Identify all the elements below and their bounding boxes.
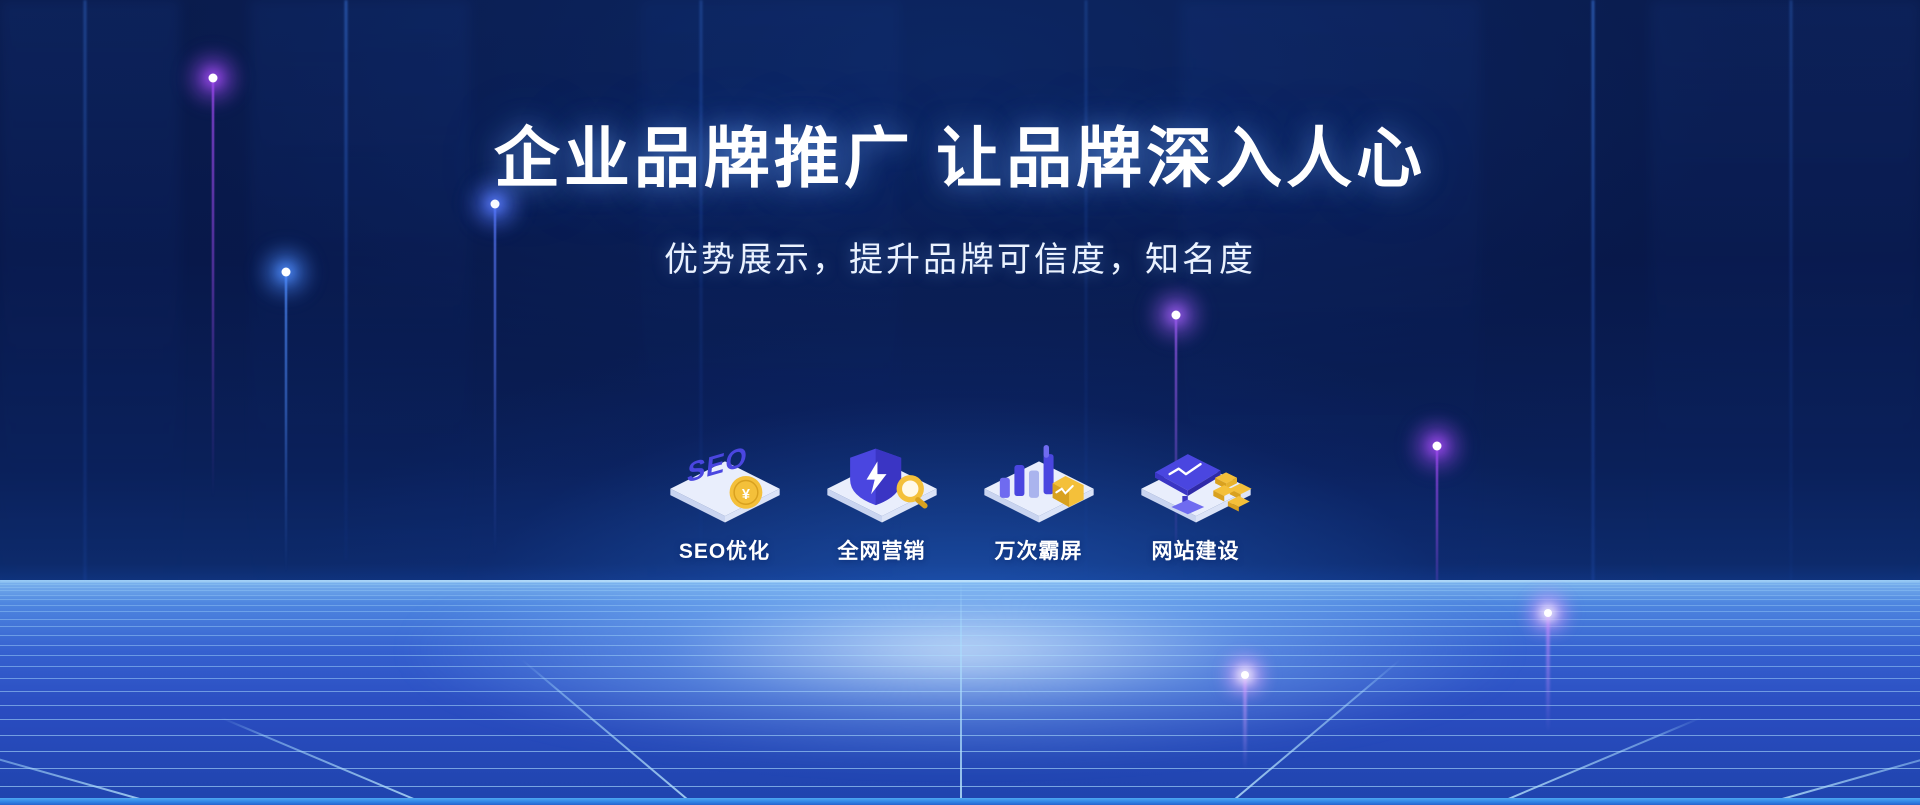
feature-label: SEO优化 — [679, 535, 770, 565]
hero-banner: 企业品牌推广 让品牌深入人心 优势展示，提升品牌可信度，知名度 SEO¥SEO优… — [0, 0, 1920, 805]
bar-chart-folder-icon — [974, 445, 1104, 527]
svg-text:¥: ¥ — [741, 487, 750, 503]
feature-item-2[interactable]: 全网营销 — [814, 445, 949, 565]
monitor-blocks-icon — [1131, 445, 1261, 527]
feature-item-4[interactable]: 网站建设 — [1128, 445, 1263, 565]
banner-title: 企业品牌推广 让品牌深入人心 — [0, 122, 1920, 195]
banner-content: 企业品牌推广 让品牌深入人心 优势展示，提升品牌可信度，知名度 SEO¥SEO优… — [0, 0, 1920, 805]
seo-coin-platform-icon: SEO¥ — [660, 445, 790, 527]
feature-icon-row: SEO¥SEO优化全网营销万次霸屏网站建设 — [657, 445, 1263, 565]
feature-item-1[interactable]: SEO¥SEO优化 — [657, 445, 792, 565]
banner-subtitle: 优势展示，提升品牌可信度，知名度 — [0, 232, 1920, 281]
feature-label: 全网营销 — [838, 535, 926, 565]
feature-label: 万次霸屏 — [995, 535, 1083, 565]
feature-label: 网站建设 — [1152, 535, 1240, 565]
shield-bolt-magnifier-icon — [817, 445, 947, 527]
feature-item-3[interactable]: 万次霸屏 — [971, 445, 1106, 565]
